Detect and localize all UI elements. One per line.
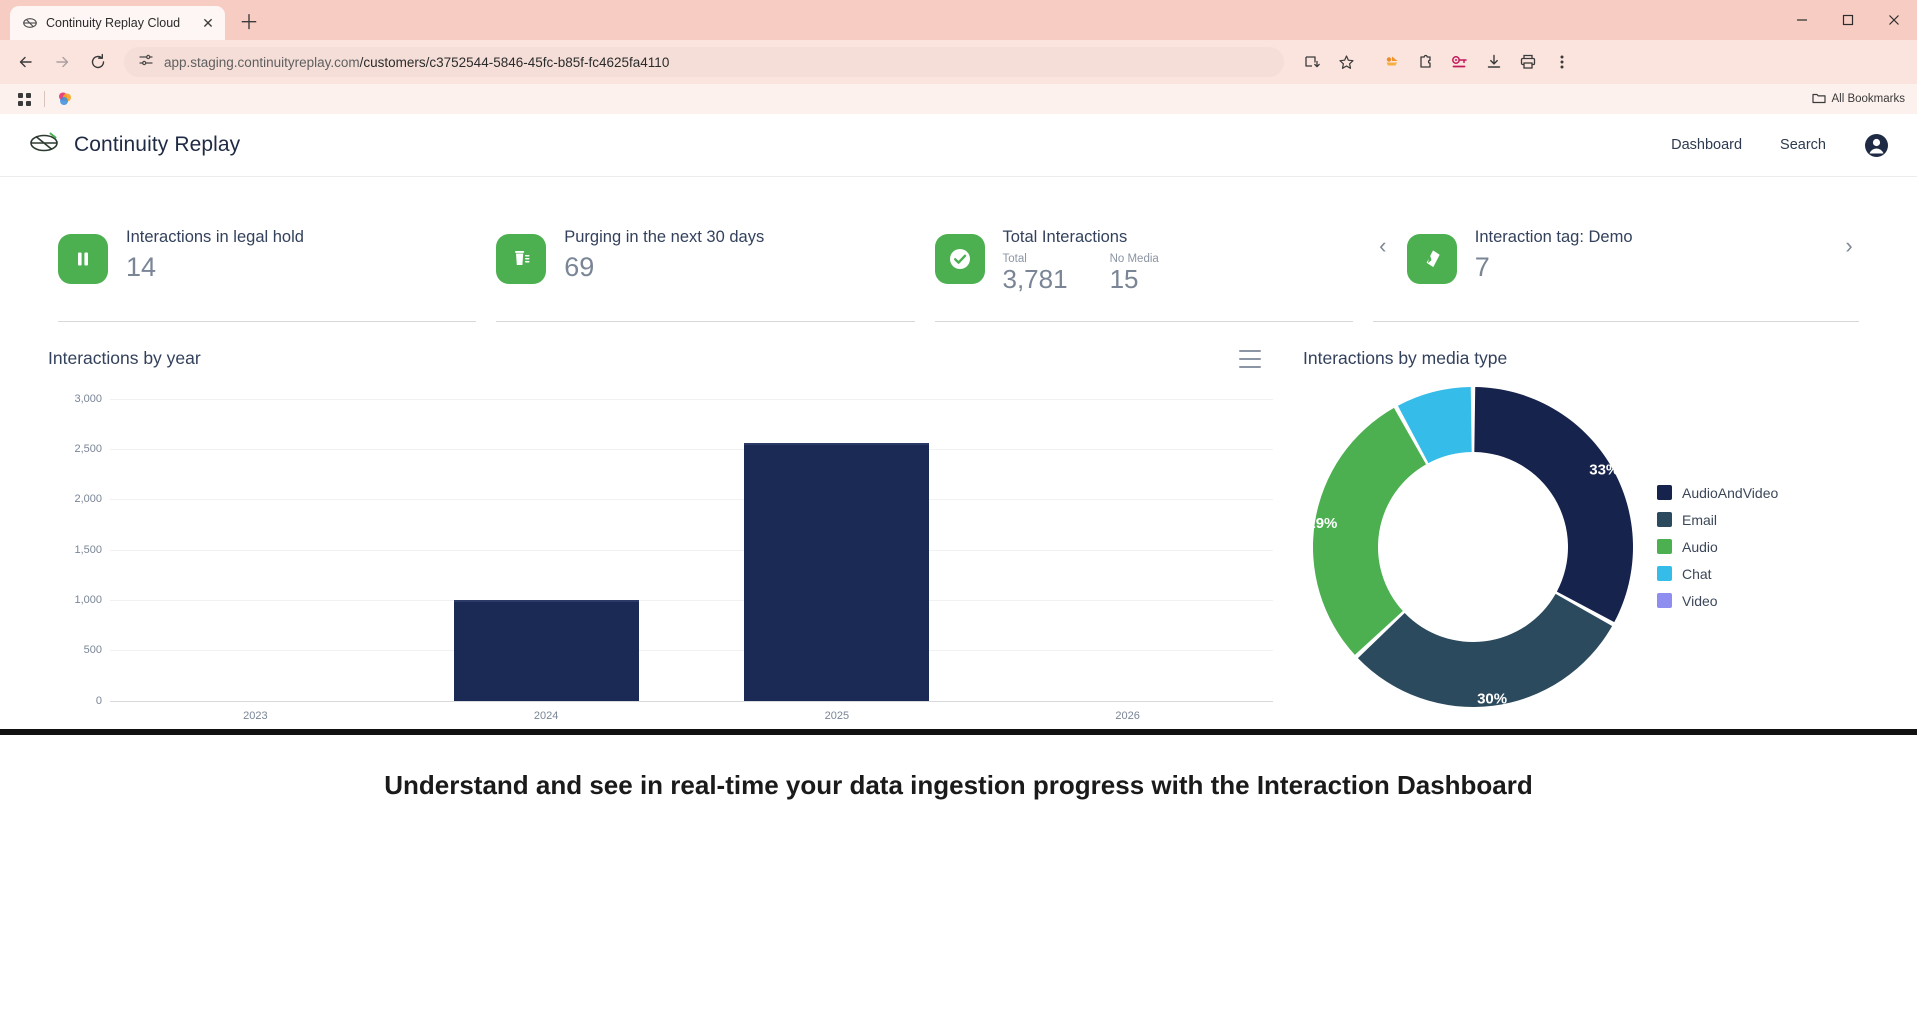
account-circle-icon[interactable] [1864, 133, 1889, 158]
site-settings-icon[interactable] [138, 52, 154, 73]
bar-slot [692, 399, 983, 701]
bar-slot [401, 399, 692, 701]
tab-title: Continuity Replay Cloud [46, 16, 191, 30]
nav-dashboard[interactable]: Dashboard [1671, 137, 1742, 153]
kpi-sub-label: No Media [1110, 253, 1159, 265]
tag-icon [1407, 234, 1457, 284]
x-axis: 2023202420252026 [110, 703, 1273, 729]
hamburger-menu-icon[interactable] [1239, 350, 1261, 368]
minimize-button[interactable] [1779, 0, 1825, 40]
globe-icon [22, 15, 38, 31]
url-text: app.staging.continuityreplay.com/custome… [164, 55, 669, 70]
y-axis-tick: 0 [96, 695, 102, 707]
address-bar[interactable]: app.staging.continuityreplay.com/custome… [124, 47, 1284, 77]
kpi-legal-hold[interactable]: Interactions in legal hold 14 [58, 211, 476, 322]
brand[interactable]: Continuity Replay [28, 129, 240, 162]
kpi-sub-label: Total [1003, 253, 1068, 265]
kpi-label: Interactions in legal hold [126, 227, 304, 248]
legend-label: Chat [1682, 566, 1712, 582]
url-host: app.staging.continuityreplay.com [164, 55, 360, 70]
legend-item[interactable]: Email [1657, 512, 1778, 528]
maximize-button[interactable] [1825, 0, 1871, 40]
chart-title: Interactions by media type [1303, 348, 1869, 369]
kpi-body: Interaction tag: Demo 7 [1475, 225, 1633, 282]
menu-line [1239, 350, 1261, 352]
carousel-next-icon[interactable]: › [1839, 235, 1859, 257]
kpi-body: Total Interactions Total 3,781 No Media … [1003, 225, 1159, 295]
install-app-icon[interactable] [1296, 46, 1328, 78]
page-viewport: Continuity Replay Dashboard Search [0, 114, 1917, 1027]
colorful-app-icon[interactable] [51, 88, 79, 110]
bar[interactable] [744, 443, 929, 701]
kpi-body: Purging in the next 30 days 69 [564, 225, 764, 282]
kpi-value: 14 [126, 253, 304, 283]
app-header: Continuity Replay Dashboard Search [0, 114, 1917, 177]
trash-delete-icon [496, 234, 546, 284]
x-axis-tick: 2026 [982, 710, 1273, 722]
url-path: /customers/c3752544-5846-45fc-b85f-fc462… [360, 55, 670, 70]
kpi-row: Interactions in legal hold 14 [48, 177, 1869, 322]
chart-title: Interactions by year [48, 348, 1273, 369]
globe-logo-icon [28, 129, 60, 162]
x-axis-tick: 2025 [692, 710, 983, 722]
bookmark-star-icon[interactable] [1330, 46, 1362, 78]
chart-interactions-by-year: Interactions by year 05001,0001,5002,000… [48, 348, 1273, 729]
dashboard-content: Interactions in legal hold 14 [0, 177, 1917, 729]
donut-slice-label: 29% [1307, 515, 1337, 532]
donut-slice[interactable] [1474, 387, 1633, 622]
omnibox-actions [1296, 46, 1578, 78]
kpi-body: Interactions in legal hold 14 [126, 225, 304, 282]
legend-item[interactable]: Audio [1657, 539, 1778, 555]
omnibox-toolbar: app.staging.continuityreplay.com/custome… [0, 40, 1917, 84]
password-key-icon[interactable] [1444, 46, 1476, 78]
apps-grid-icon[interactable] [10, 88, 38, 110]
window-controls [1779, 0, 1917, 40]
check-circle-icon [935, 234, 985, 284]
kpi-purging[interactable]: Purging in the next 30 days 69 [496, 211, 914, 322]
kpi-sub-total: Total 3,781 [1003, 253, 1068, 295]
y-axis-tick: 2,500 [74, 443, 102, 455]
extensions-puzzle-icon[interactable] [1410, 46, 1442, 78]
legend-label: AudioAndVideo [1682, 485, 1778, 501]
kpi-label: Interaction tag: Demo [1475, 227, 1633, 248]
kpi-value: 7 [1475, 253, 1633, 283]
caption-text: Understand and see in real-time your dat… [384, 770, 1533, 801]
donut-slice-label: 33% [1589, 461, 1619, 478]
bookmarks-divider [44, 91, 45, 107]
bar-slot [110, 399, 401, 701]
browser-window: Continuity Replay Cloud ✕ ＋ [0, 0, 1917, 1027]
legend-swatch [1657, 593, 1672, 608]
donut-legend: AudioAndVideoEmailAudioChatVideo [1657, 485, 1778, 609]
legend-swatch [1657, 512, 1672, 527]
bookmarks-bar: All Bookmarks [0, 84, 1917, 114]
donut-slice-label: 30% [1477, 690, 1507, 707]
all-bookmarks-label: All Bookmarks [1832, 93, 1906, 105]
reload-button[interactable] [82, 46, 114, 78]
bar-slot [982, 399, 1273, 701]
brand-name: Continuity Replay [74, 133, 240, 157]
legend-item[interactable]: Video [1657, 593, 1778, 609]
kpi-sub-value: 15 [1110, 265, 1159, 295]
extension-orange-icon[interactable] [1376, 46, 1408, 78]
kpi-sub-value: 3,781 [1003, 265, 1068, 295]
y-axis-tick: 1,500 [74, 544, 102, 556]
donut-svg[interactable]: 33%30%29% [1303, 377, 1643, 717]
charts-row: Interactions by year 05001,0001,5002,000… [48, 322, 1869, 729]
all-bookmarks-button[interactable]: All Bookmarks [1812, 92, 1906, 107]
downloads-icon[interactable] [1478, 46, 1510, 78]
kpi-sub-values: Total 3,781 No Media 15 [1003, 253, 1159, 295]
browser-tab[interactable]: Continuity Replay Cloud ✕ [10, 6, 225, 40]
x-axis-tick: 2023 [110, 710, 401, 722]
forward-button[interactable] [46, 46, 78, 78]
grid-area [110, 399, 1273, 701]
footer-caption: Understand and see in real-time your dat… [0, 735, 1917, 837]
legend-label: Audio [1682, 539, 1718, 555]
bars-row [110, 399, 1273, 701]
y-axis: 05001,0001,5002,0002,5003,000 [48, 399, 110, 701]
x-axis-tick: 2024 [401, 710, 692, 722]
bar-plot-area: 05001,0001,5002,0002,5003,000 2023202420… [48, 399, 1273, 729]
app-nav: Dashboard Search [1671, 133, 1889, 158]
bar[interactable] [454, 600, 639, 701]
kpi-total-interactions[interactable]: Total Interactions Total 3,781 No Media … [935, 211, 1353, 322]
legend-swatch [1657, 485, 1672, 500]
pause-icon [58, 234, 108, 284]
gridline [110, 701, 1273, 702]
legend-label: Email [1682, 512, 1717, 528]
folder-icon [1812, 92, 1826, 107]
legend-swatch [1657, 539, 1672, 554]
menu-line [1239, 366, 1261, 368]
nav-search[interactable]: Search [1780, 137, 1826, 153]
legend-swatch [1657, 566, 1672, 581]
y-axis-tick: 500 [84, 644, 102, 656]
tab-strip: Continuity Replay Cloud ✕ ＋ [0, 0, 1917, 40]
kpi-interaction-tag[interactable]: ‹ Interaction tag: Demo 7 › [1373, 211, 1859, 322]
legend-label: Video [1682, 593, 1718, 609]
close-window-button[interactable] [1871, 0, 1917, 40]
y-axis-tick: 1,000 [74, 594, 102, 606]
y-axis-tick: 3,000 [74, 393, 102, 405]
donut-wrap: 33%30%29% AudioAndVideoEmailAudioChatVid… [1303, 377, 1869, 717]
new-tab-button[interactable]: ＋ [235, 9, 263, 37]
back-button[interactable] [10, 46, 42, 78]
kpi-label: Purging in the next 30 days [564, 227, 764, 248]
legend-item[interactable]: Chat [1657, 566, 1778, 582]
kpi-label: Total Interactions [1003, 227, 1159, 248]
kpi-value: 69 [564, 253, 764, 283]
legend-item[interactable]: AudioAndVideo [1657, 485, 1778, 501]
browser-menu-icon[interactable] [1546, 46, 1578, 78]
close-icon[interactable]: ✕ [199, 14, 217, 32]
chart-interactions-by-media-type: Interactions by media type 33%30%29% Aud… [1303, 348, 1869, 729]
print-icon[interactable] [1512, 46, 1544, 78]
y-axis-tick: 2,000 [74, 493, 102, 505]
carousel-prev-icon[interactable]: ‹ [1373, 235, 1393, 257]
kpi-sub-no-media: No Media 15 [1110, 253, 1159, 295]
menu-line [1239, 358, 1261, 360]
